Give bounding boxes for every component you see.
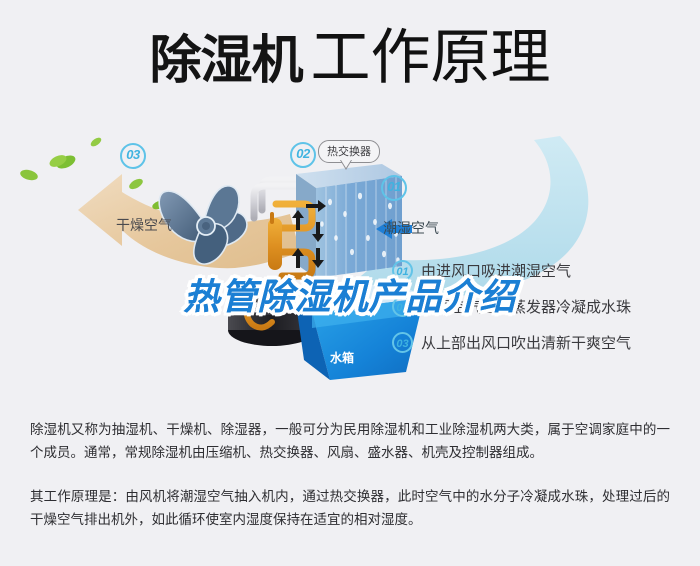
legend-item: 03 从上部出风口吹出清新干爽空气	[392, 324, 692, 360]
diagram-badge-03: 03	[120, 143, 146, 169]
water-tank-label: 水箱	[330, 349, 354, 366]
paragraph-overview: 除湿机又称为抽湿机、干燥机、除湿器，一般可分为民用除湿机和工业除湿机两大类，属于…	[30, 418, 670, 464]
body-copy: 除湿机又称为抽湿机、干燥机、除湿器，一般可分为民用除湿机和工业除湿机两大类，属于…	[30, 418, 670, 552]
page-title-secondary: 工作原理	[311, 24, 551, 91]
dry-air-label: 干燥空气	[116, 215, 172, 235]
callout-tail-inner-icon	[341, 160, 351, 168]
diagram-badge-01: 01	[381, 175, 407, 201]
legend-label: 从上部出风口吹出清新干爽空气	[421, 332, 631, 353]
diagram-badge-02: 02	[290, 142, 316, 168]
page-title: 除湿机工作原理	[0, 28, 700, 88]
humid-air-label: 潮湿空气	[383, 218, 439, 238]
page-root: 除湿机工作原理	[0, 0, 700, 566]
promo-banner-text: 热管除湿机产品介绍	[0, 268, 700, 320]
paragraph-principle: 其工作原理是：由风机将潮湿空气抽入机内，通过热交换器，此时空气中的水分子冷凝成水…	[30, 485, 670, 531]
page-title-primary: 除湿机	[149, 32, 302, 90]
legend-badge: 03	[392, 332, 413, 353]
